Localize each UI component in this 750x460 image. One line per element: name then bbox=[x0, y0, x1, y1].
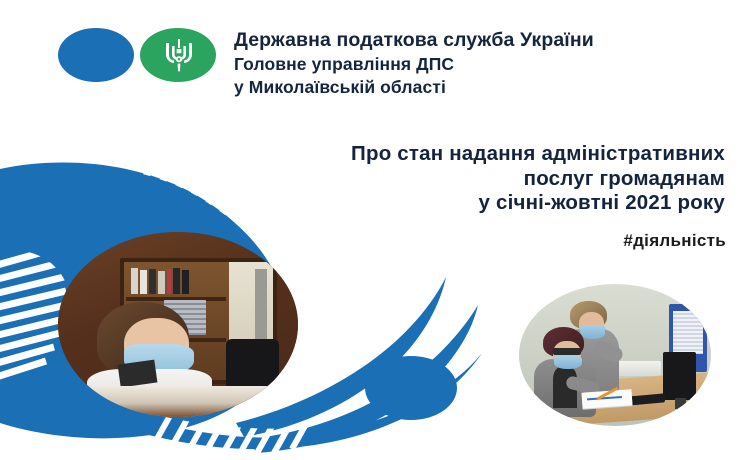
hashtag-label: #діяльність bbox=[623, 231, 726, 251]
books-row bbox=[131, 268, 189, 294]
title-line-3: у січні-жовтні 2021 року bbox=[180, 191, 725, 216]
monitor-stand bbox=[675, 398, 687, 409]
org-name-line-1: Державна податкова служба України bbox=[234, 27, 734, 53]
ukrainian-trident-icon bbox=[162, 37, 196, 73]
logo-blue-ellipse bbox=[58, 28, 134, 82]
photo-main-scene bbox=[58, 232, 298, 417]
org-name-line-3: у Миколаївській області bbox=[234, 76, 734, 99]
organization-name-block: Державна податкова служба України Головн… bbox=[234, 27, 734, 99]
computer-monitor bbox=[663, 352, 696, 400]
office-chair bbox=[226, 339, 279, 387]
page-title: Про стан надання адміністративних послуг… bbox=[180, 142, 725, 216]
poster-canvas: Державна податкова служба України Головн… bbox=[0, 0, 750, 460]
photo-consultation bbox=[519, 284, 711, 426]
title-line-1: Про стан надання адміністративних bbox=[180, 142, 725, 167]
swirl-node-ellipse bbox=[365, 356, 457, 420]
counter-surface bbox=[58, 386, 298, 417]
title-line-2: послуг громадянам bbox=[180, 167, 725, 192]
photo-service-window bbox=[58, 232, 298, 417]
organization-logo bbox=[58, 28, 218, 84]
org-name-line-2: Головне управління ДПС bbox=[234, 53, 734, 76]
